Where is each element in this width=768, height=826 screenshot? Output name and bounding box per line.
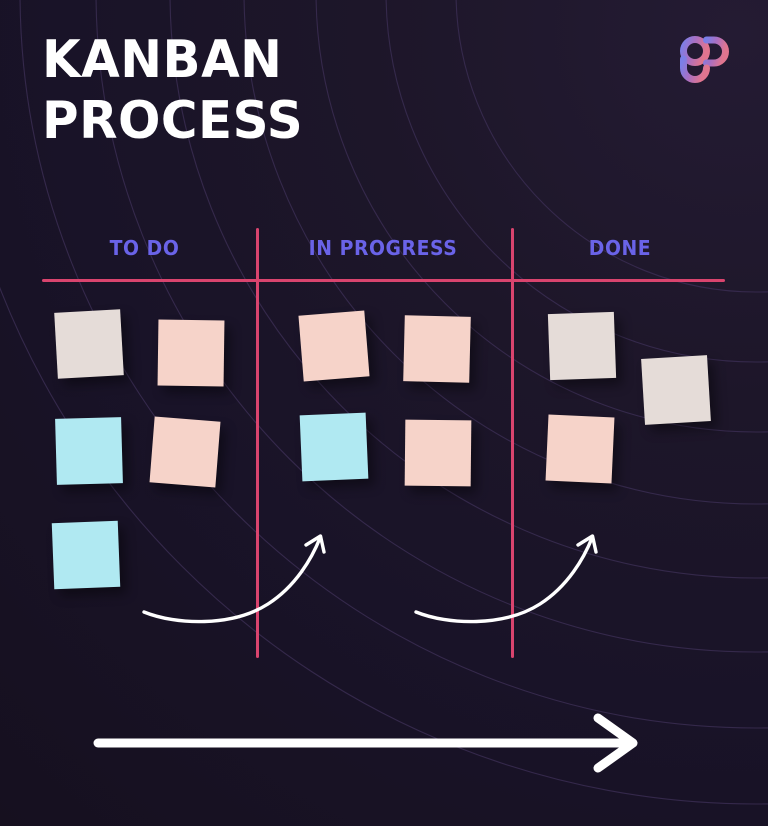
sticky-note-done-2[interactable] [641,355,711,425]
kanban-board: TO DO IN PROGRESS DONE [0,0,768,826]
sticky-note-todo-1[interactable] [54,309,124,379]
column-header-done: DONE [535,236,704,260]
process-direction-arrow [92,712,648,774]
sticky-note-done-1[interactable] [548,312,616,380]
kanban-poster: KANBAN PROCESS TO DO IN PROGRESS DONE [0,0,768,826]
sticky-note-inprogress-4[interactable] [405,420,472,487]
sticky-note-inprogress-2[interactable] [403,315,471,383]
sticky-note-inprogress-1[interactable] [298,310,369,381]
column-header-inprogress: IN PROGRESS [275,236,491,260]
sticky-note-todo-2[interactable] [158,320,225,387]
sticky-note-inprogress-3[interactable] [300,413,369,482]
board-divider-vertical-2 [511,228,514,658]
sticky-note-todo-5[interactable] [52,521,120,589]
sticky-note-todo-4[interactable] [150,417,221,488]
sticky-note-done-3[interactable] [546,415,615,484]
sticky-note-todo-3[interactable] [55,417,123,485]
board-divider-horizontal [42,279,725,282]
column-header-todo: TO DO [67,236,222,260]
board-divider-vertical-1 [256,228,259,658]
